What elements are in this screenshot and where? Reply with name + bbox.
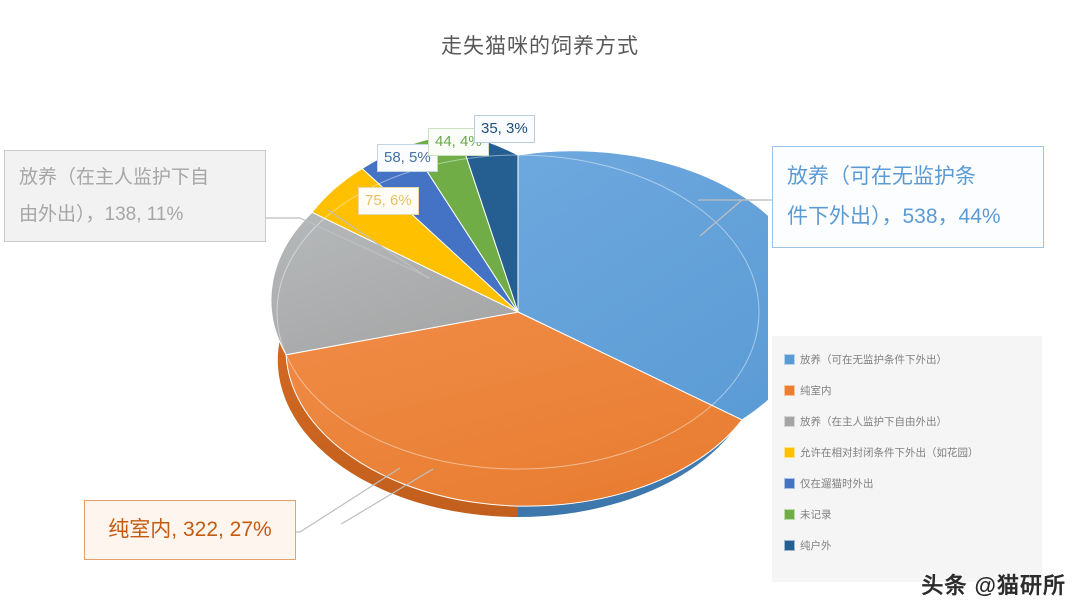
watermark: 头条 @猫研所 <box>921 568 1066 600</box>
legend-item-label: 允许在相对封闭条件下外出（如花园） <box>800 445 979 460</box>
legend-swatch-icon <box>784 540 795 551</box>
pie-chart-svg <box>268 104 768 524</box>
legend-item[interactable]: 放养（在主人监护下自由外出） <box>772 406 1042 437</box>
legend-swatch-icon <box>784 509 795 520</box>
callout-free-range-unsupervised[interactable]: 放养（可在无监护条 件下外出），538，44% <box>772 146 1044 248</box>
legend-item[interactable]: 仅在遛猫时外出 <box>772 468 1042 499</box>
legend-item-label: 纯室内 <box>800 383 832 398</box>
legend-swatch-icon <box>784 478 795 489</box>
pie-chart <box>268 104 768 524</box>
legend-item-label: 放养（在主人监护下自由外出） <box>800 414 947 429</box>
legend-item[interactable]: 纯户外 <box>772 530 1042 561</box>
data-label-outdoor-only[interactable]: 35, 3% <box>474 115 535 143</box>
legend-item[interactable]: 放养（可在无监护条件下外出） <box>772 344 1042 375</box>
legend-swatch-icon <box>784 354 795 365</box>
legend-item-label: 纯户外 <box>800 538 832 553</box>
callout-orange-text: 纯室内, 322, 27% <box>108 509 271 551</box>
legend-item[interactable]: 允许在相对封闭条件下外出（如花园） <box>772 437 1042 468</box>
chart-legend: 放养（可在无监护条件下外出）纯室内放养（在主人监护下自由外出）允许在相对封闭条件… <box>772 336 1042 582</box>
callout-blue-line2: 件下外出），538，44% <box>787 197 1029 237</box>
legend-swatch-icon <box>784 385 795 396</box>
chart-page: 走失猫咪的饲养方式 <box>0 0 1080 608</box>
legend-item-label: 放养（可在无监护条件下外出） <box>800 352 947 367</box>
callout-free-range-supervised[interactable]: 放养（在主人监护下自 由外出），138, 11% <box>4 150 266 242</box>
legend-swatch-icon <box>784 447 795 458</box>
callout-gray-line1: 放养（在主人监护下自 <box>19 159 251 196</box>
legend-item[interactable]: 未记录 <box>772 499 1042 530</box>
legend-item[interactable]: 纯室内 <box>772 375 1042 406</box>
callout-gray-line2: 由外出），138, 11% <box>19 196 251 233</box>
callout-indoor-only[interactable]: 纯室内, 322, 27% <box>84 500 296 560</box>
legend-item-label: 仅在遛猫时外出 <box>800 476 874 491</box>
legend-swatch-icon <box>784 416 795 427</box>
callout-blue-line1: 放养（可在无监护条 <box>787 157 1029 197</box>
legend-item-label: 未记录 <box>800 507 832 522</box>
data-label-enclosed-garden[interactable]: 75, 6% <box>358 187 419 215</box>
page-title: 走失猫咪的饲养方式 <box>0 30 1080 60</box>
